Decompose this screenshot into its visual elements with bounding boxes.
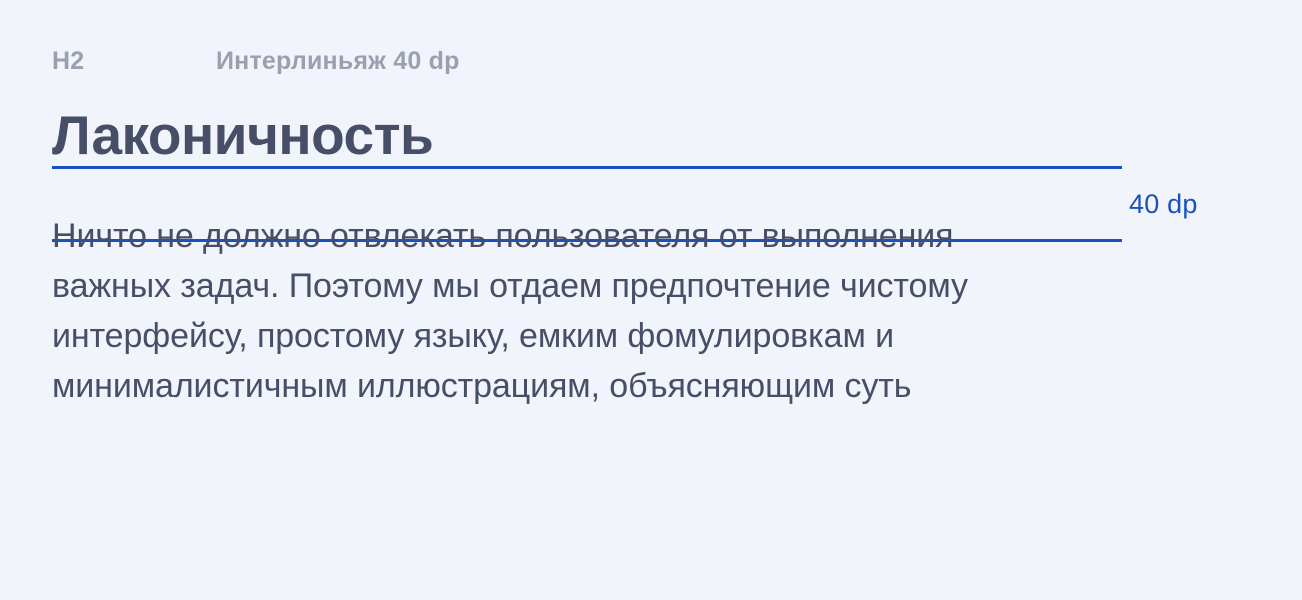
- style-tag-label: H2: [52, 47, 216, 76]
- spec-meta-row: H2 Интерлиньяж 40 dp: [52, 44, 460, 78]
- body-line: Ничто не должно отвлекать пользователя о…: [52, 211, 1062, 261]
- typography-spec-canvas: H2 Интерлиньяж 40 dp Лаконичность 40 dp …: [0, 0, 1302, 600]
- line-height-spec-label: Интерлиньяж 40 dp: [216, 47, 460, 76]
- body-line: важных задач. Поэтому мы отдаем предпочт…: [52, 261, 1062, 311]
- baseline-rule-top: [52, 166, 1122, 169]
- page-title: Лаконичность: [52, 104, 433, 166]
- body-paragraph: Ничто не должно отвлекать пользователя о…: [52, 211, 1062, 411]
- line-height-measurement-label: 40 dp: [1129, 189, 1198, 220]
- body-line: минималистичным иллюстрациям, объясняющи…: [52, 361, 1062, 411]
- body-line: интерфейсу, простому языку, емким фомули…: [52, 311, 1062, 361]
